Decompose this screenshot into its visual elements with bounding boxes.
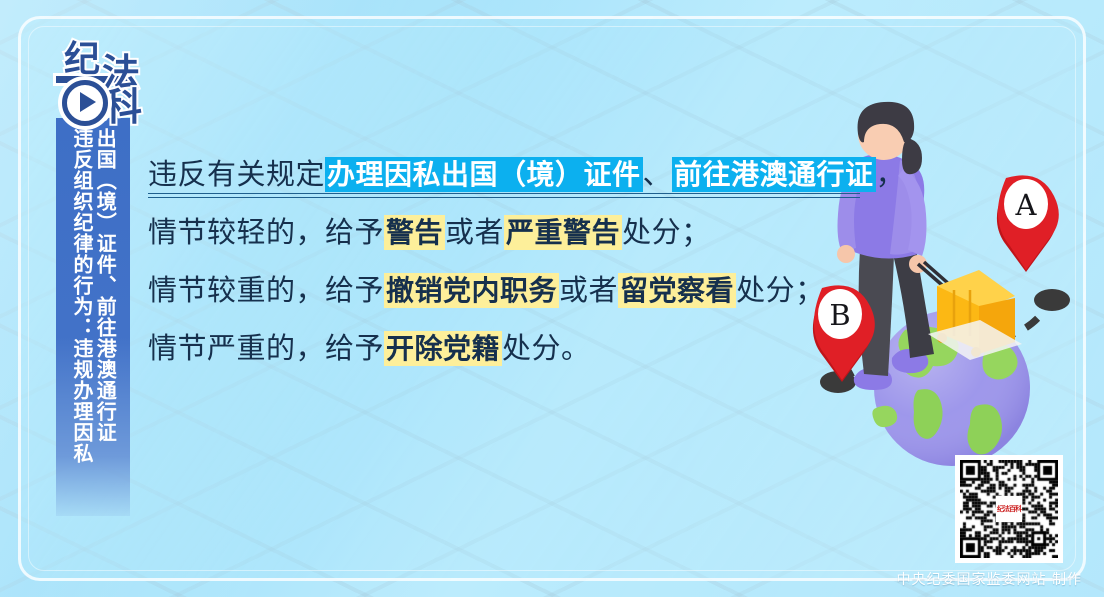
text-line-4: 情节严重的，给予开除党籍处分。 <box>148 320 868 378</box>
qr-center-logo: 纪法百科 <box>996 496 1022 522</box>
line1-seg3: ， <box>876 159 906 191</box>
line2-seg1: 情节较轻的，给予 <box>148 217 384 249</box>
line1-highlight-2: 前往港澳通行证 <box>672 157 876 192</box>
line3-seg2: 或者 <box>559 275 618 307</box>
line2-seg3: 处分； <box>622 217 711 249</box>
vertical-title-banner: 出国（境）证件、前往港澳通行证 违反组织纪律的行为：违规办理因私 <box>56 118 130 516</box>
text-line-1: 违反有关规定办理因私出国（境）证件、前往港澳通行证， <box>148 146 868 204</box>
line2-highlight-2: 严重警告 <box>504 215 622 250</box>
line2-seg2: 或者 <box>445 217 504 249</box>
line3-seg3: 处分； <box>736 275 825 307</box>
line4-highlight-1: 开除党籍 <box>384 331 502 366</box>
line4-seg1: 情节严重的，给予 <box>148 333 384 365</box>
logo-char-ji: 纪 <box>64 42 100 78</box>
qr-code[interactable]: 纪法百科 <box>955 455 1063 563</box>
line1-seg2: 、 <box>643 159 673 191</box>
poster-canvas: 纪 法 科 出国（境）证件、前往港澳通行证 违反组织纪律的行为：违规办理因私 违… <box>0 0 1104 597</box>
brand-logo: 纪 法 科 <box>52 40 162 130</box>
map-pin-a: A <box>997 175 1059 272</box>
logo-char-ke: 科 <box>104 88 142 126</box>
line2-highlight-1: 警告 <box>384 215 445 250</box>
pin-a-label: A <box>1015 188 1038 222</box>
line1-highlight-1: 办理因私出国（境）证件 <box>325 157 643 192</box>
line4-seg2: 处分。 <box>502 333 591 365</box>
text-line-3: 情节较重的，给予撤销党内职务或者留党察看处分； <box>148 262 868 320</box>
line3-highlight-1: 撤销党内职务 <box>384 273 559 308</box>
banner-column-right: 出国（境）证件、前往港澳通行证 <box>94 128 115 516</box>
play-triangle-icon <box>80 92 96 112</box>
text-line-2: 情节较轻的，给予警告或者严重警告处分； <box>148 204 868 262</box>
line3-highlight-2: 留党察看 <box>618 273 736 308</box>
line1-seg1: 违反有关规定 <box>148 159 325 191</box>
footer-credit: 中央纪委国家监委网站 制作 <box>897 569 1082 589</box>
main-text-block: 违反有关规定办理因私出国（境）证件、前往港澳通行证， 情节较轻的，给予警告或者严… <box>148 146 868 378</box>
banner-column-left: 违反组织纪律的行为：违规办理因私 <box>71 128 92 516</box>
line3-seg1: 情节较重的，给予 <box>148 275 384 307</box>
line1-double-underline <box>148 193 860 198</box>
